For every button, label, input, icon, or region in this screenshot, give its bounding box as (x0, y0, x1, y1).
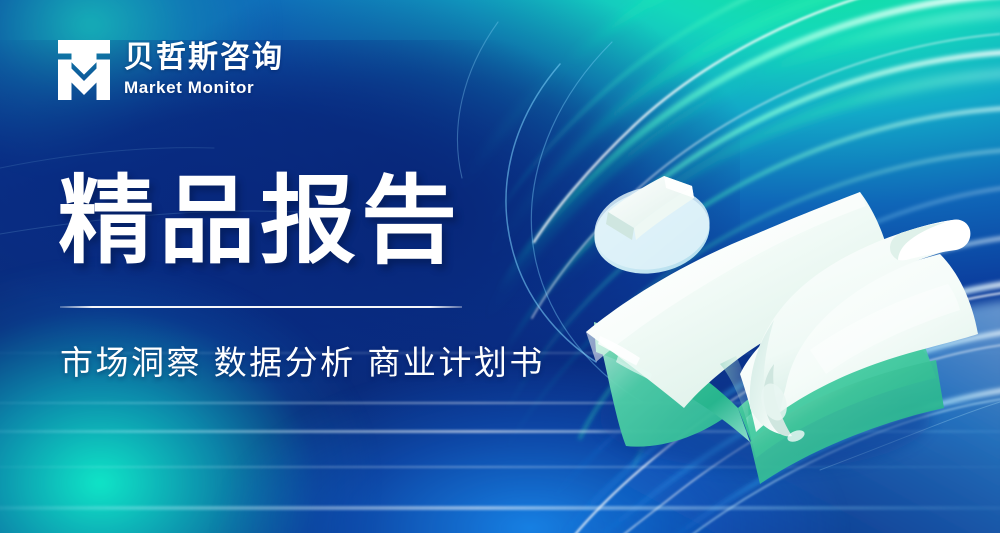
light-streak (0, 506, 1000, 510)
page-title: 精品报告 (58, 172, 462, 273)
page-subtitle: 市场洞察 数据分析 商业计划书 (60, 336, 545, 384)
market-monitor-m-mark-icon (58, 40, 110, 100)
brand-text: 贝哲斯咨询 Market Monitor (124, 42, 284, 98)
brand-logo[interactable]: 贝哲斯咨询 Market Monitor (58, 40, 284, 100)
brand-name-cn: 贝哲斯咨询 (124, 42, 284, 74)
title-divider (60, 306, 462, 308)
report-banner: 贝哲斯咨询 Market Monitor 精品报告 市场洞察 数据分析 商业计划… (0, 0, 1000, 533)
open-book-3d-illustration (560, 150, 980, 490)
brand-name-en: Market Monitor (124, 77, 284, 98)
